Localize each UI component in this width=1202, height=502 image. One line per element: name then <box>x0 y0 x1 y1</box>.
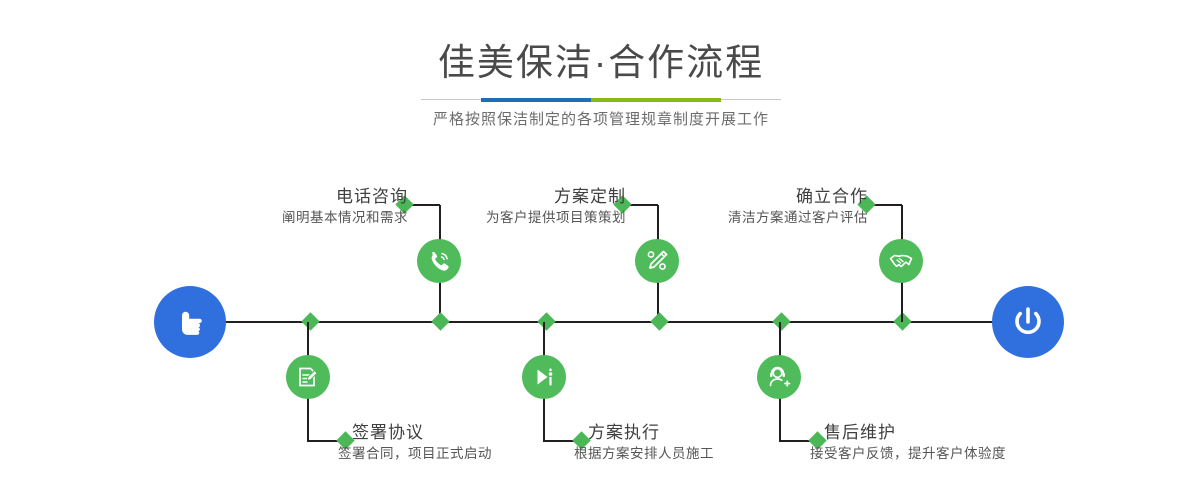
page-title: 佳美保洁·合作流程 <box>0 44 1202 81</box>
flowchart-canvas: 佳美保洁·合作流程 严格按照保洁制定的各项管理规章制度开展工作 <box>0 0 1202 502</box>
step-title-1: 电话咨询 <box>190 186 408 208</box>
phone-call-icon <box>426 248 452 274</box>
timeline-start-node[interactable] <box>154 286 226 358</box>
step-label-5: 售后维护 接受客户反馈，提升客户体验度 <box>810 422 1006 464</box>
step-desc-3: 为客户提供项目策策划 <box>486 210 626 225</box>
step-title-5: 售后维护 <box>810 422 1006 444</box>
page-subtitle: 严格按照保洁制定的各项管理规章制度开展工作 <box>0 108 1202 129</box>
step-title-3: 方案定制 <box>408 186 626 208</box>
pointing-hand-icon <box>170 302 210 342</box>
step-label-3: 方案定制 为客户提供项目策策划 <box>408 186 626 228</box>
step-desc-4: 根据方案安排人员施工 <box>574 444 714 464</box>
title-divider <box>421 98 781 102</box>
step-label-2: 签署协议 签署合同，项目正式启动 <box>338 422 492 464</box>
timeline-end-node[interactable] <box>992 286 1064 358</box>
design-pencil-icon <box>644 248 670 274</box>
power-icon <box>1007 301 1049 343</box>
step-desc-2: 签署合同，项目正式启动 <box>338 444 492 464</box>
document-edit-icon <box>295 364 321 390</box>
step-label-1: 电话咨询 阐明基本情况和需求 <box>190 186 408 228</box>
axis-marker-4 <box>650 312 668 330</box>
axis-marker-1 <box>301 312 319 330</box>
step-title-6: 确立合作 <box>650 186 868 208</box>
step-title-4: 方案执行 <box>574 422 714 444</box>
divider-green-segment <box>591 98 721 102</box>
step-icon-2[interactable] <box>286 355 330 399</box>
step-icon-1[interactable] <box>417 239 461 283</box>
step-desc-6: 清洁方案通过客户评估 <box>728 210 868 225</box>
step-icon-4[interactable] <box>522 355 566 399</box>
step-desc-1: 阐明基本情况和需求 <box>282 210 408 225</box>
axis-marker-3 <box>537 312 555 330</box>
step-desc-5: 接受客户反馈，提升客户体验度 <box>810 444 1006 464</box>
step-label-4: 方案执行 根据方案安排人员施工 <box>574 422 714 464</box>
step-icon-5[interactable] <box>757 355 801 399</box>
step-title-2: 签署协议 <box>338 422 492 444</box>
customer-service-icon <box>766 364 792 390</box>
axis-marker-5 <box>772 312 790 330</box>
step-label-6: 确立合作 清洁方案通过客户评估 <box>650 186 868 228</box>
handshake-icon <box>888 248 914 274</box>
axis-marker-2 <box>431 312 449 330</box>
step-icon-3[interactable] <box>635 239 679 283</box>
step-icon-6[interactable] <box>879 239 923 283</box>
play-execute-icon <box>531 364 557 390</box>
divider-blue-segment <box>481 98 591 102</box>
